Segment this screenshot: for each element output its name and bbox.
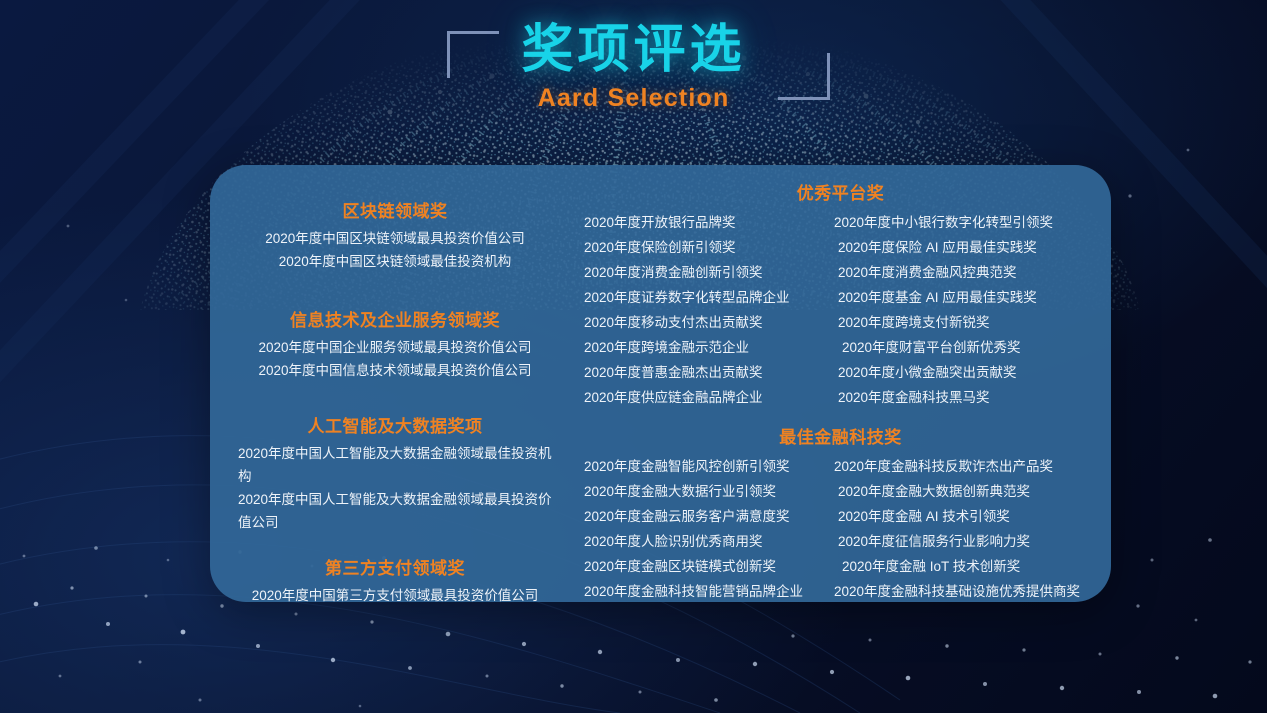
award-item: 2020年度金融区块链模式创新奖	[584, 554, 822, 579]
awards-column-right: 优秀平台奖 2020年度开放银行品牌奖 2020年度中小银行数字化转型引领奖 2…	[580, 165, 1111, 602]
award-item: 2020年度跨境支付新锐奖	[834, 310, 1101, 335]
award-item: 2020年度金融大数据行业引领奖	[584, 479, 822, 504]
awards-panel: 区块链领域奖 2020年度中国区块链领域最具投资价值公司 2020年度中国区块链…	[210, 165, 1111, 602]
award-item: 2020年度金融科技智能营销品牌企业	[584, 579, 822, 602]
award-item: 2020年度消费金融创新引领奖	[584, 260, 822, 285]
award-item: 2020年度普惠金融杰出贡献奖	[584, 360, 822, 385]
section-title: 优秀平台奖	[580, 179, 1101, 204]
slide-canvas: 奖项评选 Aard Selection 区块链领域奖 2020年度中国区块链领域…	[0, 0, 1267, 713]
award-item: 2020年度金融科技基础设施优秀提供商奖	[834, 579, 1101, 602]
award-section-best-fintech: 最佳金融科技奖 2020年度金融智能风控创新引领奖 2020年度金融科技反欺诈杰…	[580, 423, 1101, 602]
award-section-it-enterprise: 信息技术及企业服务领域奖 2020年度中国企业服务领域最具投资价值公司 2020…	[220, 306, 570, 382]
award-section-blockchain: 区块链领域奖 2020年度中国区块链领域最具投资价值公司 2020年度中国区块链…	[220, 197, 570, 273]
award-item: 2020年度金融大数据创新典范奖	[834, 479, 1101, 504]
page-title-en: Aard Selection	[0, 84, 1267, 113]
award-item: 2020年度中国第三方支付领域最具投资价值公司	[220, 584, 570, 602]
award-section-ai-bigdata: 人工智能及大数据奖项 2020年度中国人工智能及大数据金融领域最佳投资机构 20…	[220, 412, 570, 534]
awards-column-left: 区块链领域奖 2020年度中国区块链领域最具投资价值公司 2020年度中国区块链…	[210, 165, 580, 602]
award-item: 2020年度金融 IoT 技术创新奖	[834, 554, 1101, 579]
section-title: 信息技术及企业服务领域奖	[220, 306, 570, 331]
award-item: 2020年度跨境金融示范企业	[584, 335, 822, 360]
award-item: 2020年度移动支付杰出贡献奖	[584, 310, 822, 335]
award-item: 2020年度金融云服务客户满意度奖	[584, 504, 822, 529]
award-item: 2020年度中国区块链领域最具投资价值公司	[220, 227, 570, 250]
award-item: 2020年度金融智能风控创新引领奖	[584, 454, 822, 479]
award-item: 2020年度供应链金融品牌企业	[584, 385, 822, 410]
award-item: 2020年度基金 AI 应用最佳实践奖	[834, 285, 1101, 310]
page-title-cn: 奖项评选	[0, 22, 1267, 78]
page-header: 奖项评选 Aard Selection	[0, 22, 1267, 113]
award-item: 2020年度人脸识别优秀商用奖	[584, 529, 822, 554]
section-title: 区块链领域奖	[220, 197, 570, 222]
award-item: 2020年度征信服务行业影响力奖	[834, 529, 1101, 554]
award-item: 2020年度证券数字化转型品牌企业	[584, 285, 822, 310]
award-item: 2020年度中小银行数字化转型引领奖	[834, 210, 1101, 235]
award-item: 2020年度保险创新引领奖	[584, 235, 822, 260]
section-title: 第三方支付领域奖	[220, 554, 570, 579]
award-item: 2020年度中国企业服务领域最具投资价值公司	[220, 336, 570, 359]
award-item: 2020年度金融 AI 技术引领奖	[834, 504, 1101, 529]
award-item: 2020年度消费金融风控典范奖	[834, 260, 1101, 285]
award-item: 2020年度金融科技黑马奖	[834, 385, 1101, 410]
award-item: 2020年度中国人工智能及大数据金融领域最佳投资机构	[238, 442, 556, 488]
award-section-third-party-payment: 第三方支付领域奖 2020年度中国第三方支付领域最具投资价值公司	[220, 554, 570, 602]
award-section-excellent-platform: 优秀平台奖 2020年度开放银行品牌奖 2020年度中小银行数字化转型引领奖 2…	[580, 179, 1101, 410]
award-item: 2020年度中国人工智能及大数据金融领域最具投资价值公司	[238, 488, 556, 534]
award-item: 2020年度中国信息技术领域最具投资价值公司	[220, 359, 570, 382]
section-title: 人工智能及大数据奖项	[220, 412, 570, 437]
award-item: 2020年度开放银行品牌奖	[584, 210, 822, 235]
section-title: 最佳金融科技奖	[580, 423, 1101, 448]
award-item: 2020年度保险 AI 应用最佳实践奖	[834, 235, 1101, 260]
award-item: 2020年度财富平台创新优秀奖	[834, 335, 1101, 360]
award-item: 2020年度中国区块链领域最佳投资机构	[220, 250, 570, 273]
award-item: 2020年度小微金融突出贡献奖	[834, 360, 1101, 385]
award-item: 2020年度金融科技反欺诈杰出产品奖	[834, 454, 1101, 479]
